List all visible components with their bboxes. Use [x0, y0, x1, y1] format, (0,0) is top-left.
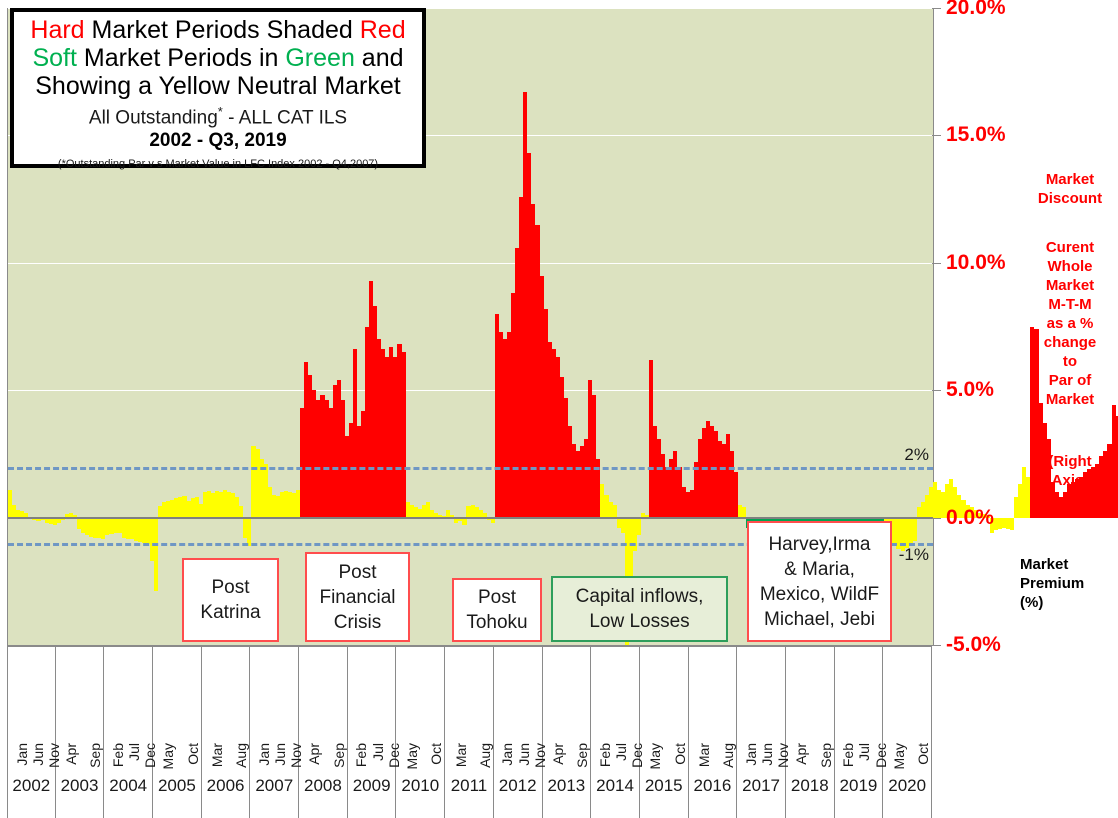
x-axis-month-label: Jul: [856, 743, 872, 761]
month-tick-row: JanJunNov: [494, 647, 542, 757]
x-axis-month-label: Oct: [915, 743, 931, 765]
callout-capital-inflows: Capital inflows,Low Losses: [551, 576, 728, 642]
y-axis: 20.0%15.0%10.0%5.0%0.0%-5.0%: [932, 0, 940, 653]
x-axis-month-label: Sep: [331, 743, 347, 768]
x-axis-month-label: Oct: [672, 743, 688, 765]
month-tick-row: JanJunNov: [8, 647, 55, 757]
month-tick-row: MayOct: [396, 647, 444, 757]
x-axis-year-cell: MayOct2020: [883, 647, 932, 818]
month-tick-row: FebJulDec: [104, 647, 152, 757]
callout-text: PostTohoku: [466, 585, 527, 635]
x-axis-year-cell: AprSep2008: [299, 647, 348, 818]
y-tick-10: [932, 263, 941, 264]
title-line-2: Soft Market Periods in Green and: [20, 44, 416, 72]
x-axis-year-label: 2013: [543, 776, 591, 796]
x-axis-month-label: Feb: [840, 743, 856, 767]
x-axis-month-label: Mar: [696, 743, 712, 767]
x-axis-month-label: May: [891, 743, 907, 769]
x-axis-month-label: Apr: [306, 743, 322, 765]
x-axis-year-label: 2012: [494, 776, 542, 796]
y-tick-0: [932, 518, 941, 519]
x-axis-year-cell: FebJulDec2009: [348, 647, 397, 818]
x-axis-month-label: Sep: [574, 743, 590, 768]
x-axis-month-label: Sep: [818, 743, 834, 768]
month-tick-row: MayOct: [153, 647, 201, 757]
chart-title-box: Hard Market Periods Shaded Red Soft Mark…: [10, 8, 426, 168]
y-axis-label: 15.0%: [946, 123, 1006, 147]
x-axis-year-label: 2016: [689, 776, 737, 796]
label-right-axis: (RightAxis): [1024, 452, 1116, 490]
x-axis-month-label: Sep: [87, 743, 103, 768]
x-axis-year-cell: JanJunNov2012: [494, 647, 543, 818]
x-axis-month-label: Aug: [233, 743, 249, 768]
x-axis-year-label: 2006: [202, 776, 250, 796]
x-axis-month-label: May: [647, 743, 663, 769]
x-axis-year-cell: JanJunNov2007: [250, 647, 299, 818]
x-axis-month-label: Apr: [63, 743, 79, 765]
x-axis-year-label: 2003: [56, 776, 104, 796]
title-line-1: Hard Market Periods Shaded Red: [20, 16, 416, 44]
reference-label-2pct: 2%: [904, 445, 929, 465]
x-axis-month-label: Jan: [499, 743, 515, 766]
x-axis-month-label: May: [404, 743, 420, 769]
month-tick-row: MarAug: [689, 647, 737, 757]
label-market-discount: MarketDiscount: [1024, 170, 1116, 208]
x-axis-month-label: Jul: [126, 743, 142, 761]
x-axis-month-label: Jul: [613, 743, 629, 761]
x-axis-month-label: Oct: [185, 743, 201, 765]
callout-text: Harvey,Irma& Maria,Mexico, WildFMichael,…: [760, 532, 879, 632]
month-tick-row: AprSep: [786, 647, 834, 757]
y-axis-label: -5.0%: [946, 633, 1001, 657]
x-axis-year-cell: FebJulDec2019: [835, 647, 884, 818]
x-axis-year-label: 2005: [153, 776, 201, 796]
x-axis-month-label: Feb: [353, 743, 369, 767]
x-axis-year-cell: MayOct2015: [640, 647, 689, 818]
month-tick-row: JanJunNov: [250, 647, 298, 757]
callout-text: PostKatrina: [200, 575, 260, 625]
y-axis-label: 5.0%: [946, 378, 994, 402]
x-axis-month-label: Jan: [14, 743, 30, 766]
bar: [637, 518, 641, 536]
reference-label-neg1pct: -1%: [899, 545, 929, 565]
month-tick-row: AprSep: [543, 647, 591, 757]
x-axis-year-cell: JanJunNov2002: [7, 647, 56, 818]
x-axis-month-label: Oct: [428, 743, 444, 765]
x-axis-year-cell: FebJulDec2014: [591, 647, 640, 818]
x-axis-month-label: Mar: [453, 743, 469, 767]
x-axis-month-label: Jul: [370, 743, 386, 761]
x-axis-year-label: 2002: [8, 776, 55, 796]
month-tick-row: AprSep: [299, 647, 347, 757]
bar: [913, 518, 917, 541]
month-tick-row: FebJulDec: [591, 647, 639, 757]
callout-post-financial-crisis: PostFinancialCrisis: [305, 552, 410, 642]
title-subtitle: All Outstanding* - ALL CAT ILS: [20, 100, 416, 129]
title-period: 2002 - Q3, 2019: [20, 129, 416, 153]
callout-post-tohoku: PostTohoku: [452, 578, 542, 642]
x-axis-year-label: 2020: [883, 776, 931, 796]
title-line-3: Showing a Yellow Neutral Market: [20, 72, 416, 100]
bar: [247, 518, 251, 546]
x-axis-year-label: 2009: [348, 776, 396, 796]
x-axis-year-label: 2010: [396, 776, 444, 796]
month-tick-row: AprSep: [56, 647, 104, 757]
month-tick-row: FebJulDec: [835, 647, 883, 757]
title-footnote: (*Outstanding Par v s Market Value in LF…: [20, 157, 416, 171]
y-axis-label: 20.0%: [946, 0, 1006, 20]
zero-line: [8, 517, 933, 519]
x-axis-year-label: 2015: [640, 776, 688, 796]
x-axis-year-cell: FebJulDec2004: [104, 647, 153, 818]
x-axis-month-label: Jan: [743, 743, 759, 766]
callout-text: PostFinancialCrisis: [319, 560, 395, 635]
callout-post-katrina: PostKatrina: [182, 558, 279, 642]
x-axis-year-label: 2008: [299, 776, 347, 796]
month-tick-row: FebJulDec: [348, 647, 396, 757]
x-axis-month-label: Feb: [597, 743, 613, 767]
x-axis-year-label: 2004: [104, 776, 152, 796]
x-axis-month-label: Jun: [759, 743, 775, 766]
bar: [1010, 518, 1014, 531]
month-tick-row: MarAug: [445, 647, 493, 757]
label-current-mtm: CurentWholeMarketM-T-Mas a %changetoPar …: [1024, 238, 1116, 409]
x-axis-year-cell: MayOct2005: [153, 647, 202, 818]
month-tick-row: MayOct: [883, 647, 931, 757]
callout-text: Capital inflows,Low Losses: [576, 584, 704, 634]
x-axis-year-label: 2007: [250, 776, 298, 796]
label-market-premium: MarketPremium(%): [1020, 555, 1118, 612]
x-axis-year-label: 2019: [835, 776, 883, 796]
x-axis-month-label: Mar: [209, 743, 225, 767]
x-axis-year-cell: AprSep2018: [786, 647, 835, 818]
x-axis-month-label: Jun: [516, 743, 532, 766]
reference-line-2pct: [8, 467, 933, 470]
y-axis-label: 0.0%: [946, 506, 994, 530]
x-axis-month-label: Feb: [110, 743, 126, 767]
bar: [154, 518, 158, 592]
x-axis-month-label: May: [160, 743, 176, 769]
x-axis-month-label: Jun: [30, 743, 46, 766]
month-tick-row: JanJunNov: [737, 647, 785, 757]
x-axis-year-cell: AprSep2003: [56, 647, 105, 818]
x-axis-month-label: Jun: [272, 743, 288, 766]
x-axis-year-cell: MarAug2011: [445, 647, 494, 818]
bar: [402, 352, 406, 518]
chart-root: 2%-1% 20.0%15.0%10.0%5.0%0.0%-5.0% Marke…: [0, 0, 1118, 818]
x-axis-year-cell: JanJunNov2017: [737, 647, 786, 818]
y-axis-label: 10.0%: [946, 251, 1006, 275]
x-axis: JanJunNov2002AprSep2003FebJulDec2004MayO…: [7, 645, 932, 818]
x-axis-year-cell: MayOct2010: [396, 647, 445, 818]
x-axis-year-label: 2011: [445, 776, 493, 796]
x-axis-month-label: Aug: [720, 743, 736, 768]
x-axis-month-label: Aug: [477, 743, 493, 768]
month-tick-row: MarAug: [202, 647, 250, 757]
x-axis-month-label: Jan: [256, 743, 272, 766]
callout-harvey-irma-maria: Harvey,Irma& Maria,Mexico, WildFMichael,…: [747, 521, 892, 642]
x-axis-year-cell: AprSep2013: [543, 647, 592, 818]
x-axis-year-cell: MarAug2016: [689, 647, 738, 818]
bar: [462, 518, 466, 526]
y-tick--5: [932, 645, 941, 646]
month-tick-row: MayOct: [640, 647, 688, 757]
y-tick-5: [932, 390, 941, 391]
x-axis-month-label: Apr: [550, 743, 566, 765]
x-axis-year-label: 2018: [786, 776, 834, 796]
y-tick-15: [932, 135, 941, 136]
x-axis-year-label: 2017: [737, 776, 785, 796]
x-axis-year-cell: MarAug2006: [202, 647, 251, 818]
x-axis-month-label: Apr: [793, 743, 809, 765]
x-axis-year-label: 2014: [591, 776, 639, 796]
y-tick-20: [932, 8, 941, 9]
